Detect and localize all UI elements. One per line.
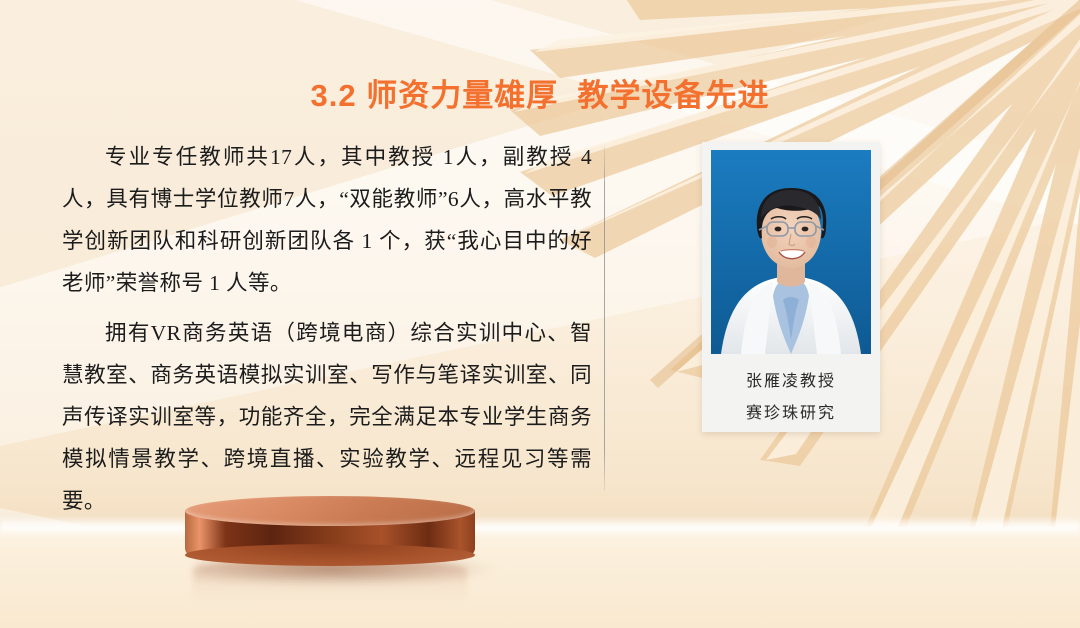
slide-canvas: 3.2 师资力量雄厚 教学设备先进 专业专任教师共17人，其中教授 1人，副教授…: [0, 0, 1080, 628]
paragraph-1: 专业专任教师共17人，其中教授 1人，副教授 4 人，具有博士学位教师7人，“双…: [62, 136, 592, 304]
floor-surface: [0, 527, 1080, 628]
page-title: 3.2 师资力量雄厚 教学设备先进: [0, 70, 1080, 115]
photo-caption: 张雁凌教授 赛珍珠研究: [702, 358, 880, 432]
vertical-divider: [604, 146, 605, 491]
caption-line-2: 赛珍珠研究: [746, 399, 836, 423]
paragraph-2: 拥有VR商务英语（跨境电商）综合实训中心、智慧教室、商务英语模拟实训室、写作与笔…: [62, 312, 592, 522]
caption-line-1: 张雁凌教授: [746, 367, 836, 391]
photo-card: 张雁凌教授 赛珍珠研究: [702, 142, 880, 432]
body-text-column: 专业专任教师共17人，其中教授 1人，副教授 4 人，具有博士学位教师7人，“双…: [62, 136, 592, 530]
portrait-photo: [711, 150, 871, 354]
